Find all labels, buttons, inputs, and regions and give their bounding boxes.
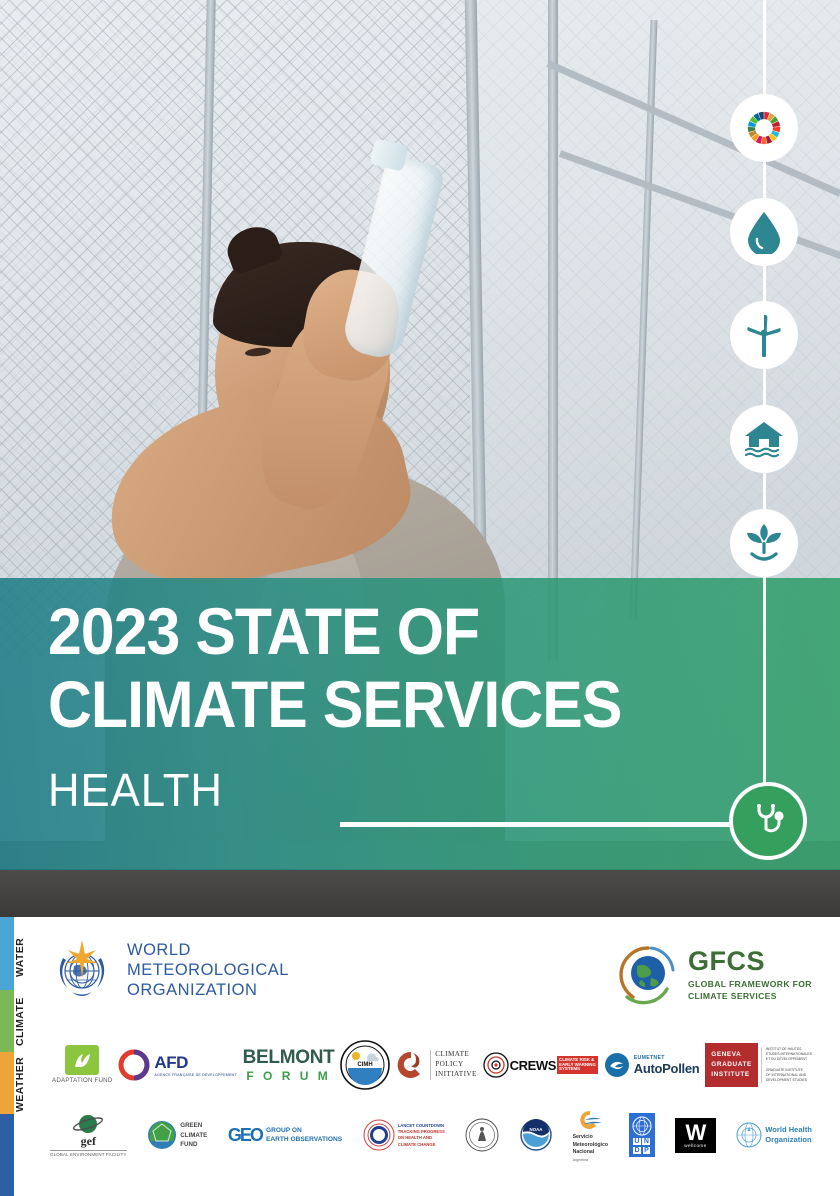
partner-logo-national-university bbox=[465, 1118, 499, 1152]
partner-sublabel: AGENCE FRANÇAISE DE DÉVELOPPEMENT bbox=[154, 1073, 236, 1077]
partner-sublabel: GROUP ONEARTH OBSERVATIONS bbox=[266, 1126, 342, 1144]
smn-icon bbox=[575, 1109, 605, 1133]
gfcs-globe-icon bbox=[617, 944, 679, 1006]
partner-sublabel: F O R U M bbox=[246, 1069, 330, 1083]
gfcs-subtitle: GLOBAL FRAMEWORK FOR CLIMATE SERVICES bbox=[688, 979, 812, 1001]
partner-row-1: ADAPTATION FUND AFD AGENCE FRANÇAISE DE … bbox=[52, 1040, 812, 1090]
side-tab-weather bbox=[0, 1052, 14, 1114]
partner-sublabel: Argentina bbox=[573, 1158, 608, 1162]
gfcs-subtitle-line-1: GLOBAL FRAMEWORK FOR bbox=[688, 979, 812, 990]
cover-page: 2023 STATE OF CLIMATE SERVICES HEALTH bbox=[0, 0, 840, 1196]
wind-turbine-icon bbox=[730, 301, 798, 369]
partner-logo-eumetnet-autopollen: EUMETNET AutoPollen bbox=[604, 1052, 700, 1078]
cpi-icon bbox=[396, 1050, 426, 1080]
university-seal-icon bbox=[465, 1118, 499, 1152]
sdg-wheel-icon bbox=[730, 94, 798, 162]
partner-label: W bbox=[684, 1123, 706, 1143]
partner-label: World HealthOrganization bbox=[765, 1125, 812, 1145]
partner-logo-undp: U N D P bbox=[629, 1113, 655, 1157]
partner-label: CREWS bbox=[510, 1058, 556, 1073]
ground-asphalt bbox=[0, 869, 840, 917]
cimh-seal-icon: CIMH bbox=[340, 1040, 390, 1090]
crews-radar-icon bbox=[483, 1052, 509, 1078]
partner-logo-lancet-countdown: LANCET COUNTDOWN TRACKING PROGRESS ON HE… bbox=[363, 1119, 445, 1151]
partner-logos-area: WATER CLIMATE WEATHER WORLD METEOROL bbox=[0, 917, 840, 1196]
partner-label: ADAPTATION FUND bbox=[52, 1077, 113, 1084]
partner-logo-gef: gef GLOBAL ENVIRONMENT FACILITY bbox=[50, 1113, 127, 1157]
partner-logo-belmont-forum: BELMONT F O R U M bbox=[243, 1047, 335, 1083]
partner-row-2: gef GLOBAL ENVIRONMENT FACILITY GREENCLI… bbox=[50, 1109, 812, 1162]
partner-logo-afd: AFD AGENCE FRANÇAISE DE DÉVELOPPEMENT bbox=[118, 1049, 236, 1081]
partner-logo-wellcome: W wellcome bbox=[675, 1118, 715, 1153]
partner-label: BELMONT bbox=[243, 1047, 335, 1069]
water-drop-icon bbox=[730, 198, 798, 266]
plant-sprout-icon bbox=[730, 509, 798, 577]
partner-sublabel: wellcome bbox=[684, 1143, 706, 1148]
title-block: 2023 STATE OF CLIMATE SERVICES HEALTH bbox=[48, 600, 748, 817]
partner-label: gef bbox=[81, 1134, 96, 1149]
noaa-icon: NOAA bbox=[520, 1119, 552, 1151]
side-colour-tabs bbox=[0, 917, 14, 1196]
partner-label: CLIMATEPOLICYINITIATIVE bbox=[430, 1050, 477, 1079]
side-tab-water bbox=[0, 917, 14, 990]
noaa-text: NOAA bbox=[530, 1127, 544, 1132]
partner-logo-crews: CREWS CLIMATE RISK &EARLY WARNINGSYSTEMS bbox=[483, 1052, 598, 1078]
title-horizontal-rule bbox=[340, 822, 732, 827]
stethoscope-icon bbox=[729, 782, 807, 860]
afd-icon bbox=[118, 1049, 150, 1081]
partner-logo-who: World HealthOrganization bbox=[736, 1122, 812, 1148]
un-emblem-icon bbox=[632, 1116, 652, 1136]
cover-photograph: 2023 STATE OF CLIMATE SERVICES HEALTH bbox=[0, 0, 840, 917]
partner-logo-servicio-meteorologico-nacional: ServicioMeteorológicoNacional Argentina bbox=[573, 1109, 608, 1162]
flooded-house-icon bbox=[730, 405, 798, 473]
partner-label: LANCET COUNTDOWN TRACKING PROGRESS ON HE… bbox=[398, 1123, 445, 1148]
wmo-logo: WORLD METEOROLOGICAL ORGANIZATION bbox=[50, 938, 289, 1002]
side-tab-label-weather: WEATHER bbox=[14, 1053, 26, 1115]
wmo-emblem-icon bbox=[50, 938, 114, 1002]
side-tab-label-water: WATER bbox=[14, 923, 26, 991]
partner-logo-climate-policy-initiative: CLIMATEPOLICYINITIATIVE bbox=[396, 1050, 477, 1080]
wmo-line-2: METEOROLOGICAL bbox=[127, 960, 289, 980]
wmo-line-1: WORLD bbox=[127, 940, 289, 960]
gfcs-acronym: GFCS bbox=[688, 948, 812, 975]
gcf-icon bbox=[147, 1120, 177, 1150]
partner-sublabel: INSTITUT DE HAUTESÉTUDES INTERNATIONALES… bbox=[761, 1047, 812, 1083]
partner-logo-adaptation-fund: ADAPTATION FUND bbox=[52, 1045, 113, 1084]
wmo-line-3: ORGANIZATION bbox=[127, 980, 289, 1000]
side-tab-climate bbox=[0, 990, 14, 1052]
side-tab-label-climate: CLIMATE bbox=[14, 991, 26, 1053]
partner-badge: CLIMATE RISK &EARLY WARNINGSYSTEMS bbox=[557, 1056, 598, 1075]
partner-logo-cimh: CIMH bbox=[340, 1040, 390, 1090]
gfcs-wordmark: GFCS GLOBAL FRAMEWORK FOR CLIMATE SERVIC… bbox=[688, 948, 812, 1001]
partner-label: ServicioMeteorológicoNacional bbox=[573, 1134, 608, 1157]
partner-label: GEO bbox=[228, 1125, 262, 1146]
partner-label: GENEVAGRADUATEINSTITUTE bbox=[705, 1043, 758, 1088]
partner-logo-green-climate-fund: GREENCLIMATEFUND bbox=[147, 1120, 207, 1150]
partner-label: GREENCLIMATEFUND bbox=[180, 1121, 207, 1149]
partner-label: AFD bbox=[154, 1053, 236, 1073]
who-emblem-icon bbox=[736, 1122, 762, 1148]
title-line-1: 2023 STATE OF bbox=[48, 600, 692, 663]
gfcs-subtitle-line-2: CLIMATE SERVICES bbox=[688, 991, 812, 1002]
title-subtitle: HEALTH bbox=[48, 763, 713, 817]
partner-logo-noaa: NOAA bbox=[520, 1119, 552, 1151]
lancet-countdown-icon bbox=[363, 1119, 395, 1151]
gfcs-logo: GFCS GLOBAL FRAMEWORK FOR CLIMATE SERVIC… bbox=[617, 944, 812, 1006]
partner-label: AutoPollen bbox=[634, 1061, 700, 1076]
fence-post bbox=[548, 0, 558, 660]
autopollen-icon bbox=[604, 1052, 630, 1078]
wmo-wordmark: WORLD METEOROLOGICAL ORGANIZATION bbox=[127, 940, 289, 1000]
side-tab-blue bbox=[0, 1114, 14, 1196]
partner-sublabel: GLOBAL ENVIRONMENT FACILITY bbox=[50, 1150, 127, 1157]
partner-logo-geneva-graduate-institute: GENEVAGRADUATEINSTITUTE INSTITUT DE HAUT… bbox=[705, 1043, 812, 1088]
cimh-text: CIMH bbox=[358, 1062, 373, 1068]
partner-logo-group-on-earth-observations: GEO GROUP ONEARTH OBSERVATIONS bbox=[228, 1125, 342, 1146]
title-line-2: CLIMATE SERVICES bbox=[48, 673, 692, 736]
